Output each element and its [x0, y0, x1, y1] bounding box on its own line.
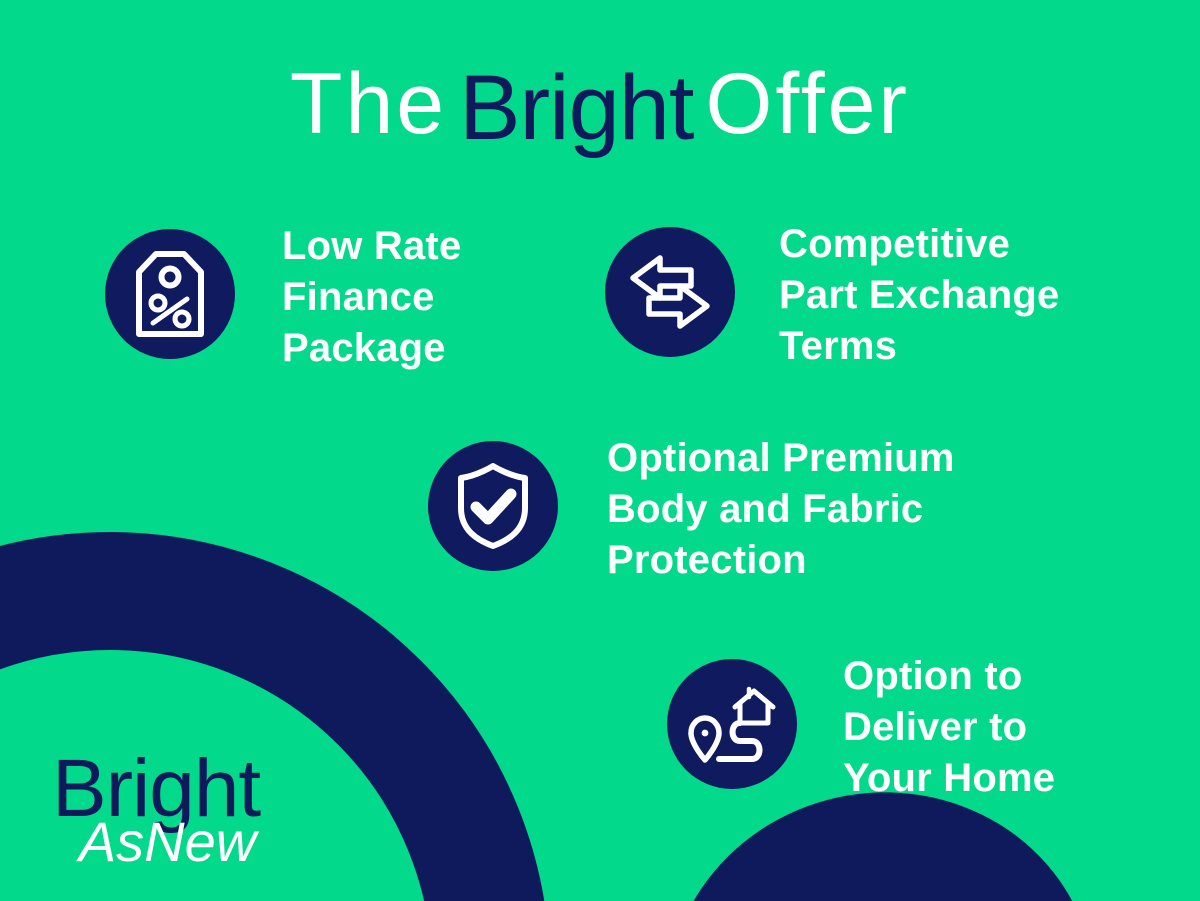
title-brand-wordmark: Bright [447, 57, 705, 159]
brand-logo: Bright AsNew [52, 748, 260, 870]
feature-item-body-fabric-protection: Optional Premium Body and Fabric Protect… [428, 441, 955, 586]
feature-label: Optional Premium Body and Fabric Protect… [607, 433, 955, 586]
title-prefix: The [290, 56, 447, 152]
feature-label: Option to Deliver to Your Home [843, 651, 1055, 804]
feature-label: Competitive Part Exchange Terms [779, 219, 1060, 372]
shield-check-icon [428, 441, 558, 571]
feature-item-home-delivery: Option to Deliver to Your Home [667, 659, 1055, 804]
feature-item-part-exchange: Competitive Part Exchange Terms [605, 227, 1060, 372]
feature-item-low-rate-finance: Low Rate Finance Package [105, 229, 461, 374]
feature-label: Low Rate Finance Package [282, 221, 461, 374]
exchange-arrows-icon [605, 227, 735, 357]
price-tag-percent-icon [105, 229, 235, 359]
logo-asnew-text: AsNew [52, 814, 256, 870]
page-title: TheBrightOffer [0, 58, 1200, 150]
map-pin-route-house-icon [667, 659, 797, 789]
title-suffix: Offer [705, 56, 910, 152]
bright-offer-poster: TheBrightOffer Low Rate Finance Package … [0, 0, 1200, 901]
